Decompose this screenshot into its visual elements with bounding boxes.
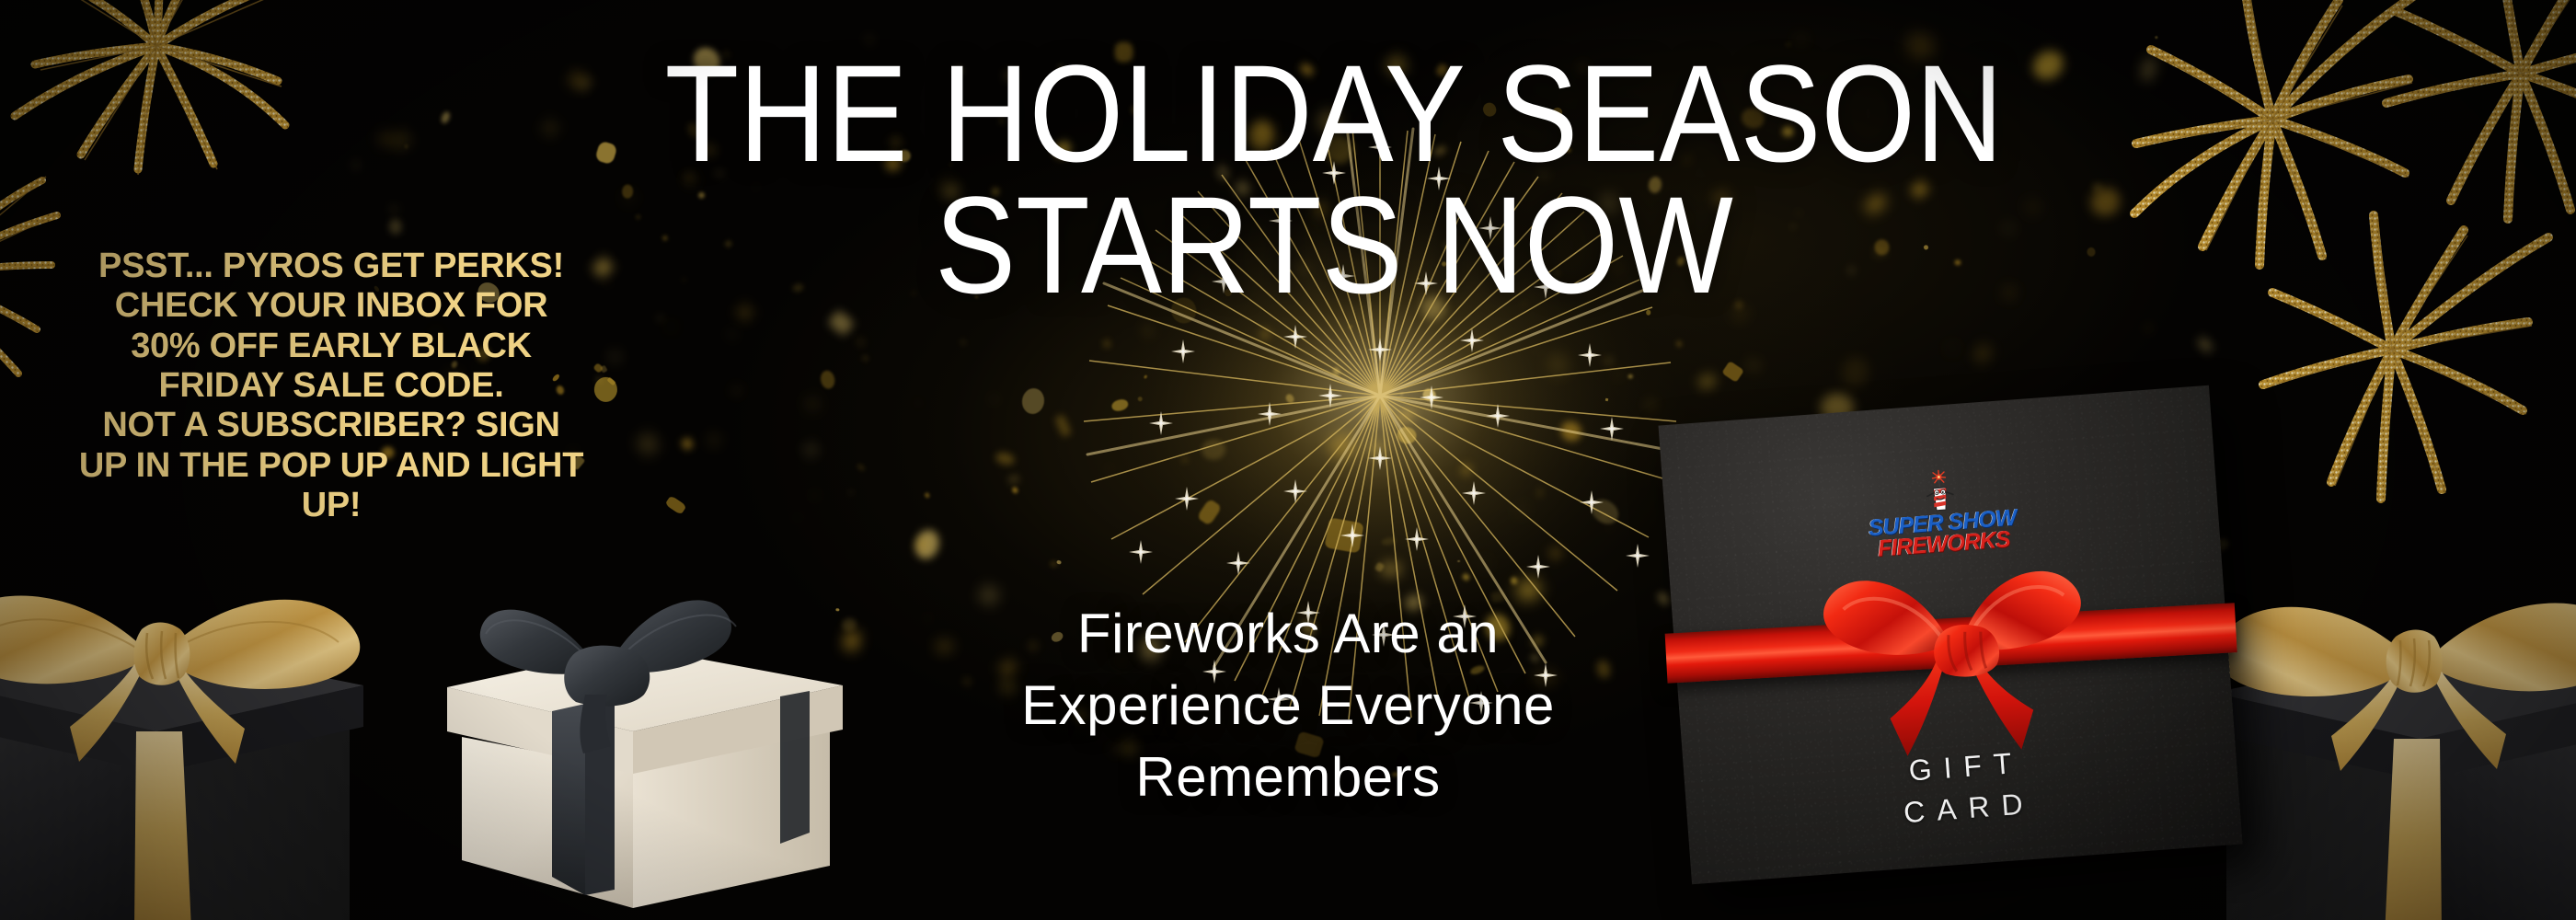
tagline: Fireworks Are an Experience Everyone Rem… [938, 598, 1638, 813]
tagline-line-1: Fireworks Are an [938, 598, 1638, 670]
gift-box-black-left [0, 497, 377, 920]
holiday-promo-banner: THE HOLIDAY SEASON STARTS NOW PSST... PY… [0, 0, 2576, 920]
gift-box-black-right [2199, 504, 2576, 920]
promo-line-1: PSST... PYROS GET PERKS! [46, 247, 616, 286]
tagline-line-3: Remembers [938, 742, 1638, 813]
promo-line-6: UP IN THE POP UP AND LIGHT [46, 446, 616, 486]
promo-line-3: 30% OFF EARLY BLACK [46, 327, 616, 366]
page-title: THE HOLIDAY SEASON STARTS NOW [646, 48, 2022, 310]
promo-line-2: CHECK YOUR INBOX FOR [46, 286, 616, 326]
promo-message: PSST... PYROS GET PERKS! CHECK YOUR INBO… [46, 247, 616, 525]
promo-line-4: FRIDAY SALE CODE. [46, 366, 616, 406]
firecracker-mascot-icon [1920, 468, 1960, 513]
gift-box-cream-center [414, 557, 856, 920]
tagline-line-2: Experience Everyone [938, 670, 1638, 742]
promo-line-5: NOT A SUBSCRIBER? SIGN [46, 406, 616, 445]
headline-line-2: STARTS NOW [646, 179, 2022, 311]
gift-card: SUPER SHOW FIREWORKS [1658, 385, 2242, 885]
